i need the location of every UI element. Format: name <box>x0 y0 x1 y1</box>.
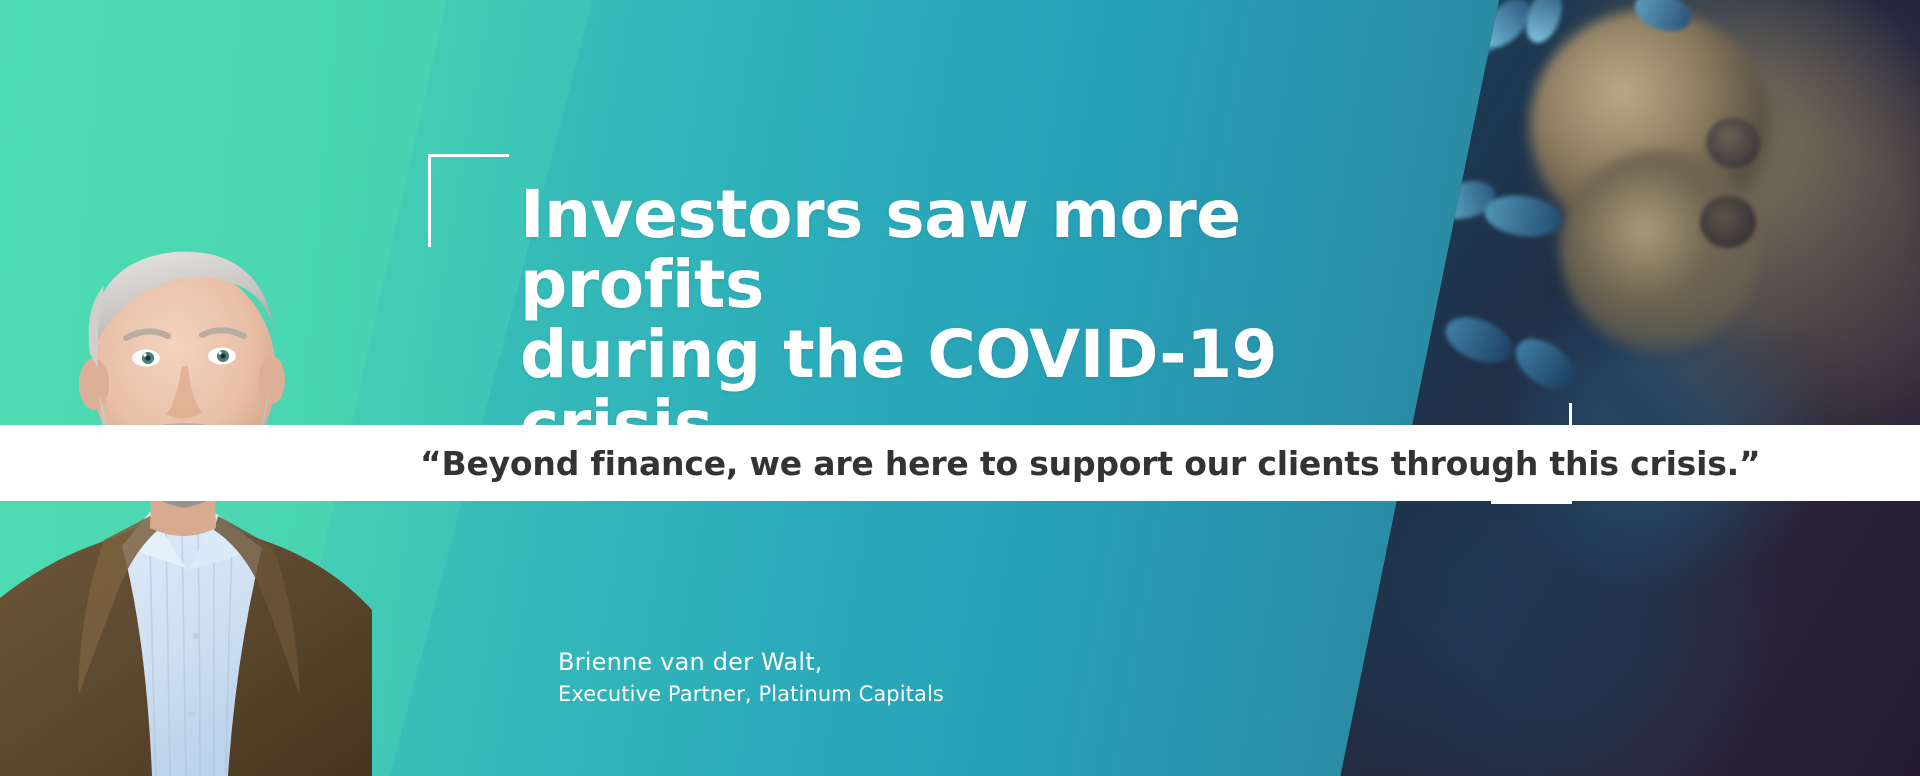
attribution-role: Executive Partner, Platinum Capitals <box>558 682 944 706</box>
quote-bar: “Beyond finance, we are here to support … <box>0 425 1920 501</box>
attribution: Brienne van der Walt, Executive Partner,… <box>558 648 944 706</box>
attribution-name: Brienne van der Walt, <box>558 648 944 676</box>
quote-text: “Beyond finance, we are here to support … <box>420 444 1761 483</box>
bracket-corner-icon <box>428 154 509 247</box>
headline-block: Investors saw more profits during the CO… <box>520 180 1480 460</box>
promo-banner: Investors saw more profits during the CO… <box>0 0 1920 776</box>
page-title: Investors saw more profits during the CO… <box>520 180 1480 460</box>
